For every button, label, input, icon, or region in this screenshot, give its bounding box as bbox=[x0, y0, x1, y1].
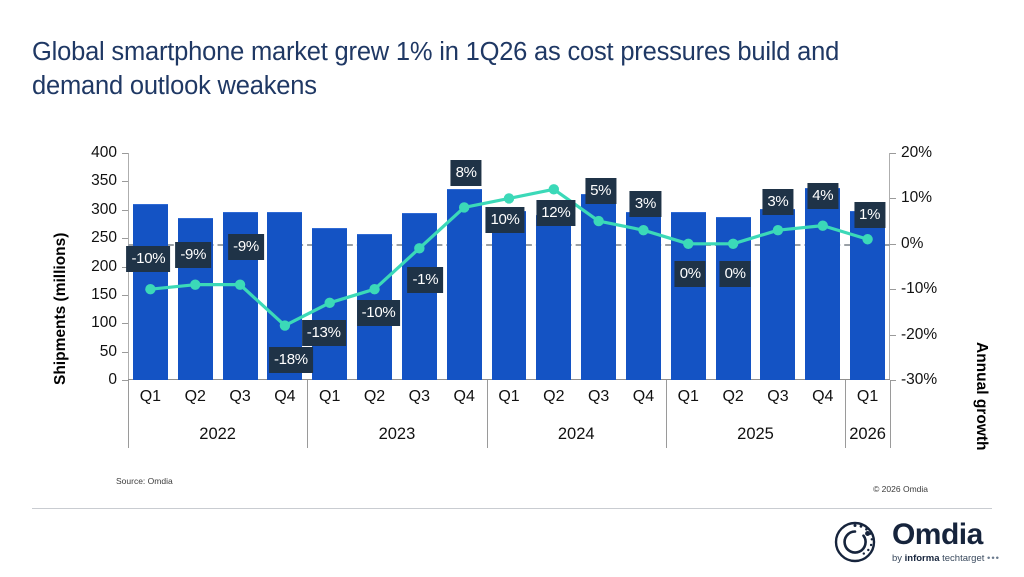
growth-line-series bbox=[128, 153, 890, 380]
slide-root: Global smartphone market grew 1% in 1Q26… bbox=[0, 0, 1024, 577]
growth-data-label-15: 4% bbox=[807, 183, 838, 209]
omdia-logo: Omdia by informa techtarget ••• bbox=[834, 518, 1000, 566]
y-axis-right-tick bbox=[890, 153, 896, 154]
growth-data-label-13: 0% bbox=[720, 261, 751, 287]
copyright-note: © 2026 Omdia bbox=[873, 484, 928, 494]
x-axis-quarter-label: Q1 bbox=[140, 388, 161, 406]
growth-data-label-8: 10% bbox=[485, 207, 524, 233]
y-axis-right-tick-label: -30% bbox=[901, 371, 937, 389]
y-axis-left-tick-label: 0 bbox=[108, 371, 117, 389]
x-axis-year-label-2024: 2024 bbox=[558, 425, 595, 444]
growth-data-label-16: 1% bbox=[854, 202, 885, 228]
x-axis-group-separator bbox=[307, 380, 308, 448]
y-axis-right-tick bbox=[890, 244, 896, 245]
growth-data-label-7: 8% bbox=[451, 160, 482, 186]
y-axis-left-tick-label: 300 bbox=[91, 201, 117, 219]
y-axis-right-tick-label: 0% bbox=[901, 235, 923, 253]
x-axis-group-separator bbox=[890, 380, 891, 448]
y-axis-right-tick bbox=[890, 198, 896, 199]
x-axis-group-separator bbox=[845, 380, 846, 448]
growth-marker-13 bbox=[728, 239, 738, 249]
growth-marker-5 bbox=[369, 284, 379, 294]
growth-marker-1 bbox=[190, 279, 200, 289]
x-axis-quarter-label: Q3 bbox=[588, 388, 609, 406]
x-axis-year-label-2023: 2023 bbox=[379, 425, 416, 444]
y-axis-right-tick bbox=[890, 289, 896, 290]
growth-marker-10 bbox=[593, 216, 603, 226]
growth-data-label-5: -10% bbox=[357, 300, 401, 326]
x-axis-year-label-2025: 2025 bbox=[737, 425, 774, 444]
chart-container: Shipments (millions) Annual growth 05010… bbox=[0, 130, 1024, 460]
growth-data-label-1: -9% bbox=[175, 242, 211, 268]
omdia-wordmark: Omdia bbox=[892, 520, 1000, 550]
growth-marker-12 bbox=[683, 239, 693, 249]
y-axis-right-tick bbox=[890, 335, 896, 336]
y-axis-left-tick-label: 100 bbox=[91, 314, 117, 332]
growth-data-label-6: -1% bbox=[407, 267, 443, 293]
growth-data-label-0: -10% bbox=[126, 246, 170, 272]
growth-data-label-14: 3% bbox=[762, 189, 793, 215]
y-axis-right-tick-label: 20% bbox=[901, 144, 932, 162]
x-axis-quarter-label: Q2 bbox=[364, 388, 385, 406]
growth-marker-2 bbox=[235, 279, 245, 289]
omdia-swirl-icon bbox=[834, 518, 882, 566]
growth-data-label-12: 0% bbox=[675, 261, 706, 287]
x-axis-quarter-label: Q3 bbox=[409, 388, 430, 406]
x-axis-quarter-label: Q2 bbox=[185, 388, 206, 406]
y-axis-left-tick-label: 350 bbox=[91, 172, 117, 190]
growth-marker-8 bbox=[504, 193, 514, 203]
footer-divider bbox=[32, 508, 992, 509]
x-axis-quarter-label: Q4 bbox=[274, 388, 295, 406]
omdia-logo-text: Omdia by informa techtarget ••• bbox=[892, 520, 1000, 564]
page-title: Global smartphone market grew 1% in 1Q26… bbox=[32, 36, 932, 103]
x-axis-year-label-2026: 2026 bbox=[849, 425, 886, 444]
x-axis-quarter-label: Q1 bbox=[678, 388, 699, 406]
growth-data-label-4: -13% bbox=[302, 320, 346, 346]
tagline-rest: techtarget bbox=[939, 553, 984, 564]
x-axis-quarter-label: Q3 bbox=[767, 388, 788, 406]
y-axis-left-title: Shipments (millions) bbox=[52, 233, 70, 385]
growth-data-label-3: -18% bbox=[269, 347, 313, 373]
y-axis-right-title: Annual growth bbox=[972, 342, 990, 451]
y-axis-left-tick-label: 50 bbox=[100, 343, 117, 361]
x-axis-quarter-label: Q3 bbox=[229, 388, 250, 406]
x-axis-quarter-label: Q1 bbox=[319, 388, 340, 406]
x-axis-year-label-2022: 2022 bbox=[199, 425, 236, 444]
y-axis-right-tick-label: 10% bbox=[901, 189, 932, 207]
y-axis-left-tick-label: 250 bbox=[91, 229, 117, 247]
y-axis-left-tick-label: 150 bbox=[91, 286, 117, 304]
tagline-dots: ••• bbox=[987, 553, 1000, 564]
growth-marker-6 bbox=[414, 243, 424, 253]
x-axis-group-separator bbox=[487, 380, 488, 448]
x-axis-quarter-label: Q4 bbox=[633, 388, 654, 406]
growth-data-label-11: 3% bbox=[630, 191, 661, 217]
growth-marker-16 bbox=[862, 234, 872, 244]
growth-marker-14 bbox=[773, 225, 783, 235]
growth-marker-4 bbox=[325, 298, 335, 308]
x-axis-quarter-label: Q2 bbox=[543, 388, 564, 406]
x-axis-quarter-label: Q4 bbox=[812, 388, 833, 406]
x-axis-quarter-label: Q4 bbox=[454, 388, 475, 406]
source-note: Source: Omdia bbox=[116, 476, 173, 486]
y-axis-left-tick-label: 200 bbox=[91, 258, 117, 276]
x-axis-quarter-label: Q1 bbox=[857, 388, 878, 406]
growth-marker-15 bbox=[818, 220, 828, 230]
x-axis-quarter-label: Q1 bbox=[498, 388, 519, 406]
y-axis-right-tick-label: -20% bbox=[901, 326, 937, 344]
growth-data-label-10: 5% bbox=[585, 178, 616, 204]
omdia-tagline: by informa techtarget ••• bbox=[892, 554, 1000, 564]
y-axis-right-tick-label: -10% bbox=[901, 280, 937, 298]
tagline-prefix: by bbox=[892, 553, 905, 564]
y-axis-left-tick-label: 400 bbox=[91, 144, 117, 162]
growth-marker-11 bbox=[638, 225, 648, 235]
x-axis-group-separator bbox=[666, 380, 667, 448]
growth-marker-7 bbox=[459, 202, 469, 212]
x-axis-group-separator bbox=[128, 380, 129, 448]
growth-data-label-9: 12% bbox=[536, 200, 575, 226]
tagline-brand: informa bbox=[905, 553, 940, 564]
plot-area: 050100150200250300350400 -30%-20%-10%0%1… bbox=[128, 153, 890, 380]
growth-data-label-2: -9% bbox=[228, 234, 264, 260]
growth-marker-9 bbox=[549, 184, 559, 194]
x-axis-quarter-label: Q2 bbox=[722, 388, 743, 406]
growth-marker-0 bbox=[145, 284, 155, 294]
growth-marker-3 bbox=[280, 320, 290, 330]
